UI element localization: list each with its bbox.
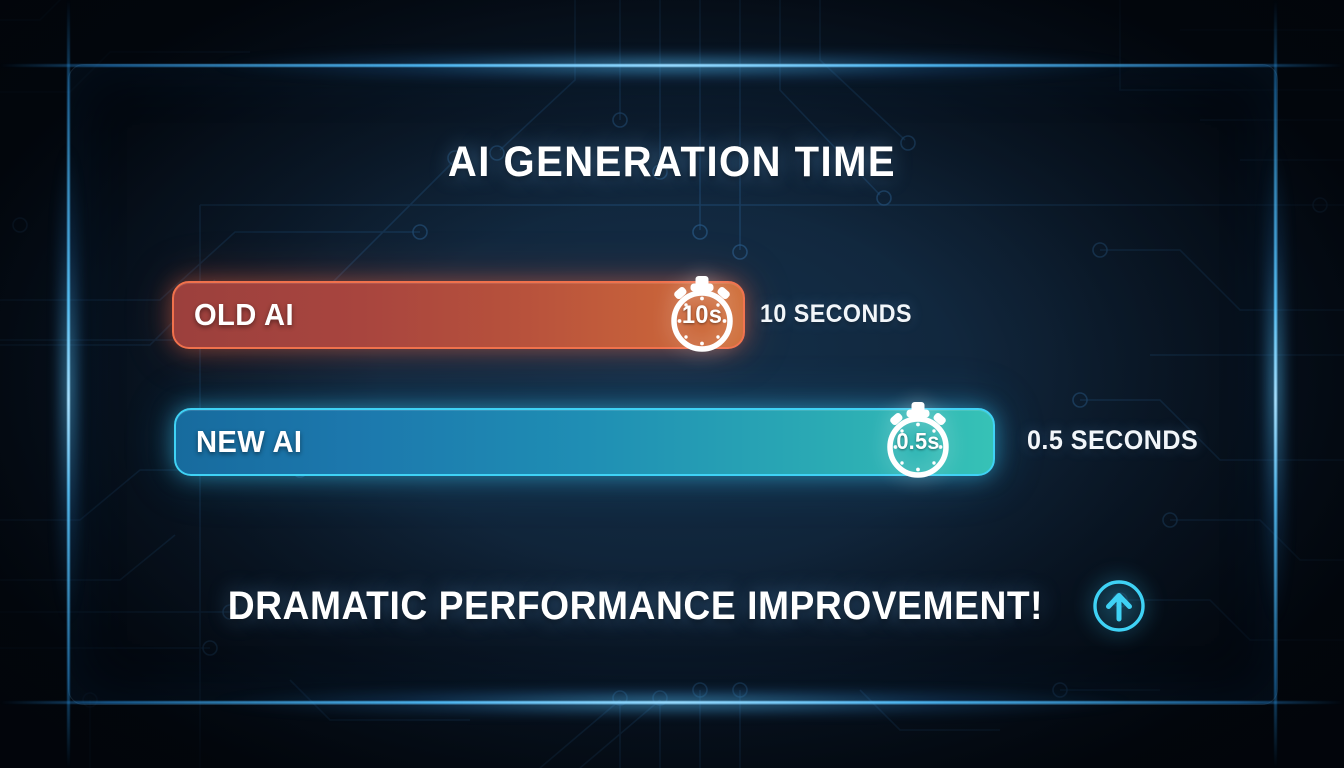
stopwatch-icon-old-ai: 10s: [660, 273, 744, 357]
content-layer: AI GENERATION TIME OLD AI: [0, 0, 1344, 768]
bar-label-old-ai: OLD AI: [194, 297, 294, 333]
seconds-label-new-ai: 0.5 SECONDS: [1027, 425, 1198, 456]
circle-arrow-up-icon: [1091, 578, 1147, 634]
stopwatch-icon-new-ai: 0.5s: [876, 399, 960, 483]
infographic-canvas: AI GENERATION TIME OLD AI: [0, 0, 1344, 768]
footer-text: DRAMATIC PERFORMANCE IMPROVEMENT!: [227, 584, 1042, 629]
footer-banner: DRAMATIC PERFORMANCE IMPROVEMENT!: [0, 578, 1344, 634]
page-title: AI GENERATION TIME: [47, 138, 1297, 187]
seconds-label-old-ai: 10 SECONDS: [760, 300, 912, 329]
bar-label-new-ai: NEW AI: [196, 424, 302, 460]
bar-new-ai: NEW AI: [174, 408, 995, 476]
